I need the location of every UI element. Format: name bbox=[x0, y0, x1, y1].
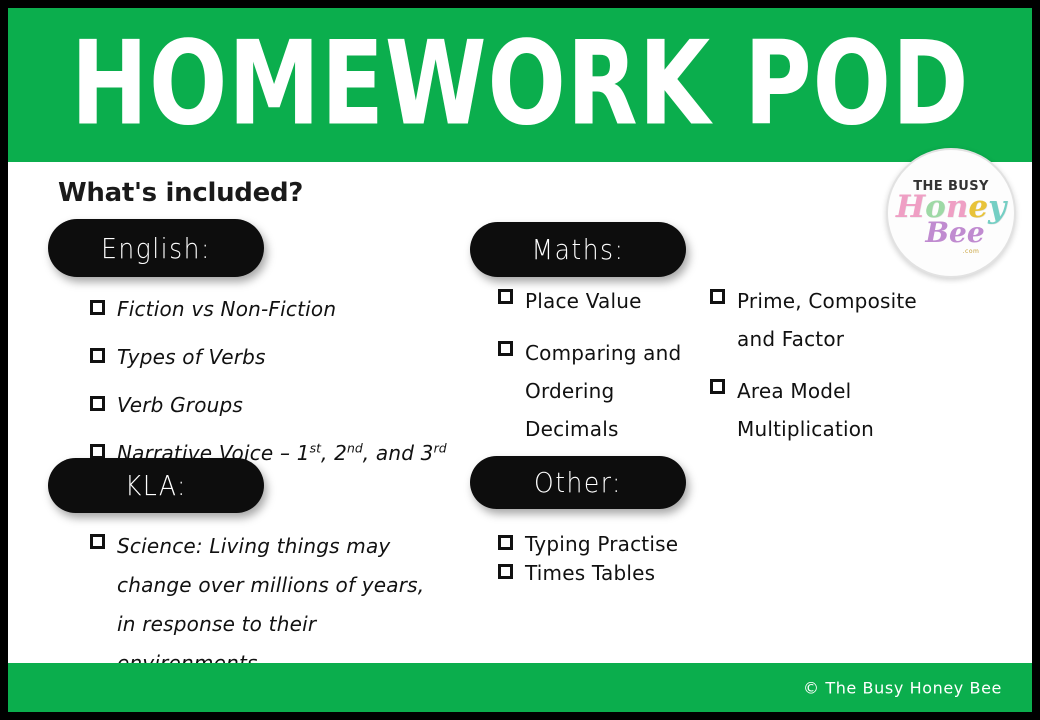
logo-letter-h: H bbox=[896, 189, 925, 225]
header-band: HOMEWORK POD bbox=[8, 8, 1032, 162]
footer-credit: © The Busy Honey Bee bbox=[803, 678, 1002, 697]
footer-band: © The Busy Honey Bee bbox=[8, 663, 1032, 712]
logo-sub-text: .com bbox=[963, 248, 980, 255]
list-item-label: Comparing and Ordering Decimals bbox=[525, 334, 708, 448]
checkbox-icon[interactable] bbox=[90, 534, 105, 549]
list-item[interactable]: Verb Groups bbox=[90, 389, 450, 421]
list-item-label: Typing Practise bbox=[525, 530, 678, 559]
section-pill-other: Other: bbox=[470, 456, 686, 509]
checkbox-icon[interactable] bbox=[90, 300, 105, 315]
checkbox-icon[interactable] bbox=[90, 444, 105, 459]
list-item[interactable]: Science: Living things may change over m… bbox=[90, 527, 430, 683]
list-item[interactable]: Comparing and Ordering Decimals bbox=[498, 334, 708, 448]
list-item-label: Place Value bbox=[525, 282, 642, 320]
brand-logo[interactable]: THE BUSY Honey Bee .com bbox=[886, 148, 1016, 278]
nv-sup-3: rd bbox=[434, 440, 447, 455]
list-item[interactable]: Prime, Composite and Factor bbox=[710, 282, 960, 358]
list-item[interactable]: Typing Practise bbox=[498, 530, 748, 559]
checkbox-icon[interactable] bbox=[710, 289, 725, 304]
poster-canvas: HOMEWORK POD What's included? English: F… bbox=[0, 0, 1040, 720]
checkbox-icon[interactable] bbox=[498, 341, 513, 356]
list-item[interactable]: Times Tables bbox=[498, 559, 748, 588]
list-item[interactable]: Place Value bbox=[498, 282, 708, 320]
logo-bee-word: Bee bbox=[925, 220, 984, 247]
list-item-label: Verb Groups bbox=[117, 389, 243, 421]
checkbox-icon[interactable] bbox=[498, 289, 513, 304]
section-pill-maths: Maths: bbox=[470, 222, 686, 277]
checkbox-icon[interactable] bbox=[90, 396, 105, 411]
list-item-label: Types of Verbs bbox=[117, 341, 266, 373]
checklist-maths-left: Place Value Comparing and Ordering Decim… bbox=[498, 282, 708, 462]
checklist-kla: Science: Living things may change over m… bbox=[90, 527, 430, 683]
checklist-other: Typing Practise Times Tables bbox=[498, 530, 748, 588]
checkbox-icon[interactable] bbox=[498, 535, 513, 550]
list-item[interactable]: Fiction vs Non-Fiction bbox=[90, 293, 450, 325]
logo-letter-y: y bbox=[988, 189, 1006, 225]
nv-sup-1: st bbox=[310, 440, 321, 455]
checklist-maths-right: Prime, Composite and Factor Area Model M… bbox=[710, 282, 960, 462]
list-item-label: Times Tables bbox=[525, 559, 655, 588]
section-pill-english: English: bbox=[48, 219, 264, 277]
list-item[interactable]: Area Model Multiplication bbox=[710, 372, 960, 448]
section-label-english: English: bbox=[101, 232, 211, 264]
checkbox-icon[interactable] bbox=[498, 564, 513, 579]
included-heading: What's included? bbox=[58, 178, 303, 208]
page-title: HOMEWORK POD bbox=[8, 38, 1032, 133]
list-item-label: Science: Living things may change over m… bbox=[117, 527, 430, 683]
section-pill-kla: KLA: bbox=[48, 458, 264, 513]
checkbox-icon[interactable] bbox=[90, 348, 105, 363]
nv-mid-1: , 2 bbox=[321, 441, 347, 465]
checklist-english: Fiction vs Non-Fiction Types of Verbs Ve… bbox=[90, 293, 450, 469]
section-label-kla: KLA: bbox=[125, 469, 187, 501]
list-item-label: Fiction vs Non-Fiction bbox=[117, 293, 336, 325]
nv-sup-2: nd bbox=[347, 440, 363, 455]
list-item[interactable]: Types of Verbs bbox=[90, 341, 450, 373]
section-label-other: Other: bbox=[534, 466, 622, 498]
section-label-maths: Maths: bbox=[532, 233, 625, 265]
nv-mid-2: , and 3 bbox=[363, 441, 434, 465]
list-item-label: Area Model Multiplication bbox=[737, 372, 960, 448]
page-title-text: HOMEWORK POD bbox=[71, 27, 970, 143]
list-item-label: Prime, Composite and Factor bbox=[737, 282, 960, 358]
checkbox-icon[interactable] bbox=[710, 379, 725, 394]
